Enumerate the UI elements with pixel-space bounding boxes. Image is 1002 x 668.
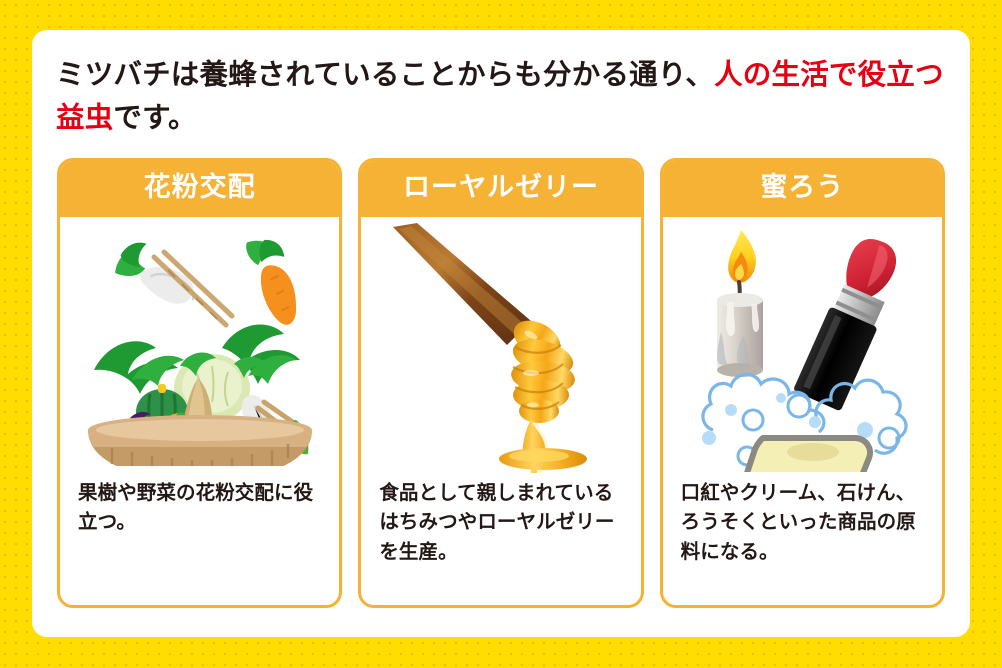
- card-pollination-title: 花粉交配: [60, 161, 339, 217]
- card-beeswax-body: 口紅やクリーム、石けん、ろうそくといった商品の原料になる。: [663, 473, 942, 605]
- page-headline: ミツバチは養蜂されていることからも分かる通り、人の生活で役立つ益虫です。: [56, 54, 950, 141]
- card-list: 花粉交配: [57, 158, 945, 608]
- headline-part-1: ミツバチは養蜂されていることからも分かる通り、: [56, 59, 714, 91]
- card-royal-jelly-body: 食品として親しまれているはちみつやローヤルゼリーを生産。: [361, 473, 640, 605]
- content-panel: ミツバチは養蜂されていることからも分かる通り、人の生活で役立つ益虫です。 花粉交…: [32, 30, 970, 637]
- card-beeswax[interactable]: 蜜ろう: [660, 158, 945, 608]
- honey-dipper-illustration: [361, 217, 640, 473]
- card-royal-jelly[interactable]: ローヤルゼリー: [358, 158, 643, 608]
- card-beeswax-title: 蜜ろう: [663, 161, 942, 217]
- vegetable-basket-illustration: [60, 217, 339, 473]
- headline-part-2: です。: [113, 102, 196, 134]
- card-pollination[interactable]: 花粉交配: [57, 158, 342, 608]
- card-pollination-body: 果樹や野菜の花粉交配に役立つ。: [60, 473, 339, 605]
- candle-lipstick-soap-illustration: [663, 217, 942, 473]
- card-royal-jelly-title: ローヤルゼリー: [361, 161, 640, 217]
